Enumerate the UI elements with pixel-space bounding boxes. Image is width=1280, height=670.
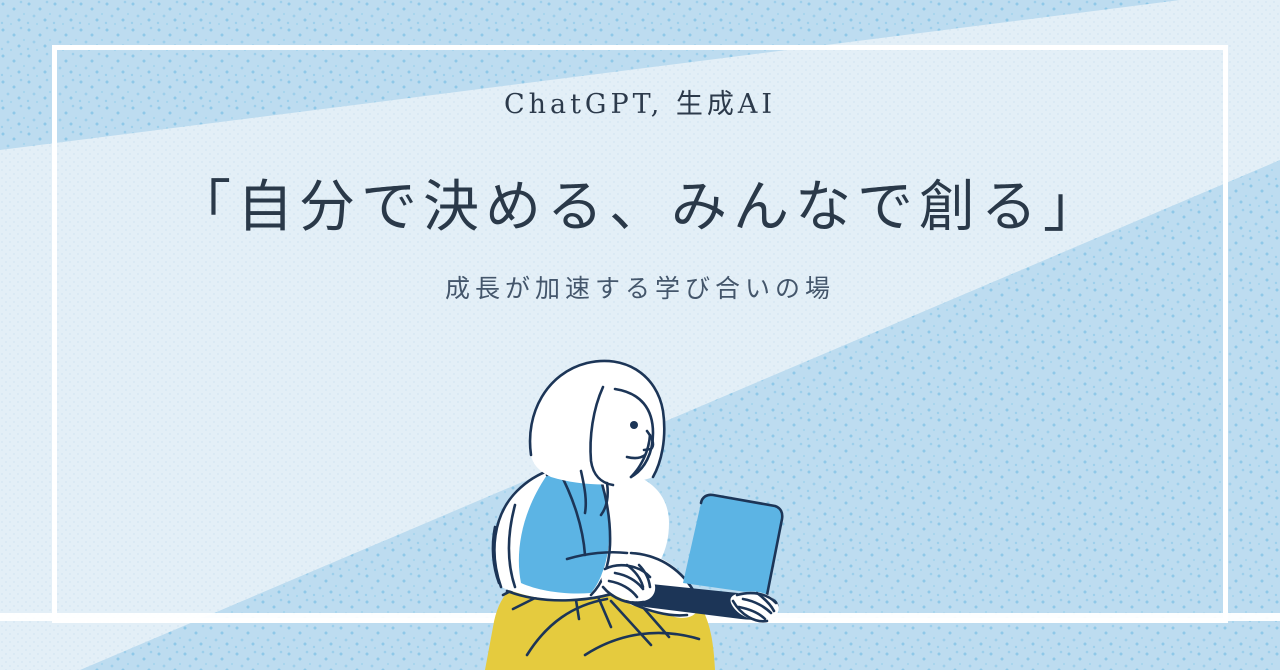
hero-banner: ChatGPT, 生成AI 「自分で決める、みんなで創る」 成長が加速する学び合… [0, 0, 1280, 670]
eye-dot [630, 421, 638, 429]
laptop-screen [683, 495, 782, 595]
banner-tagline: 成長が加速する学び合いの場 [0, 269, 1280, 305]
woman-typing-on-laptop-illustration [455, 355, 855, 670]
banner-headline: 「自分で決める、みんなで創る」 [0, 162, 1280, 243]
banner-eyebrow: ChatGPT, 生成AI [0, 82, 1280, 121]
